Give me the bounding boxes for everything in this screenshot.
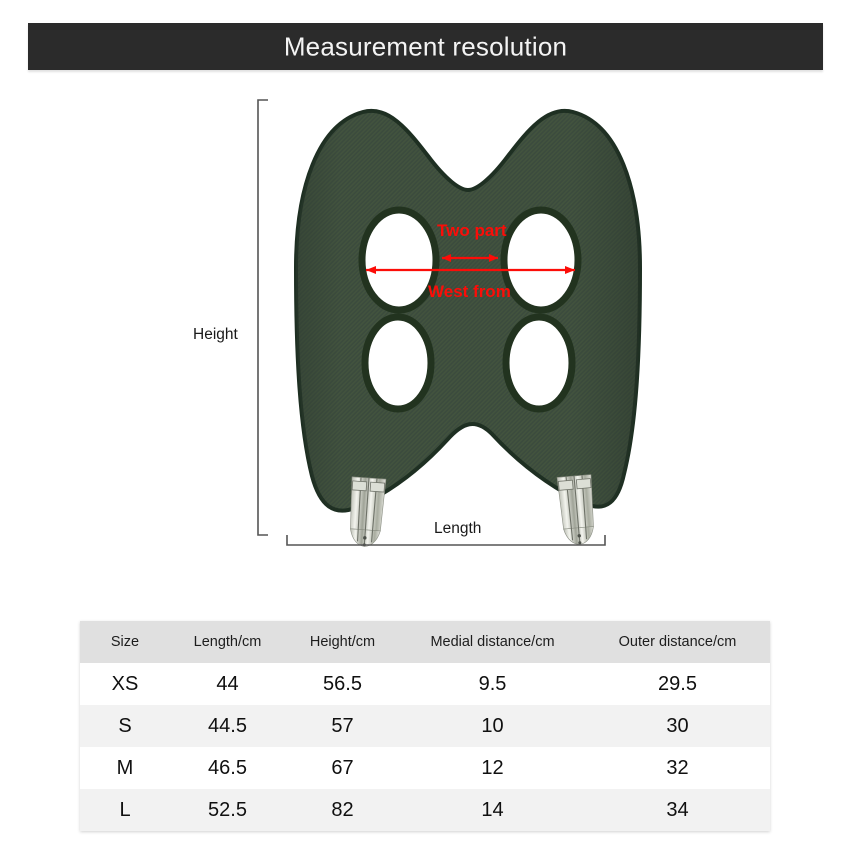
cell-medial: 10: [400, 705, 585, 747]
cell-length: 52.5: [170, 789, 285, 831]
product-illustration: [0, 78, 850, 598]
column-header-length: Length/cm: [170, 621, 285, 663]
cell-outer: 29.5: [585, 663, 770, 705]
column-header-medial: Medial distance/cm: [400, 621, 585, 663]
cell-height: 82: [285, 789, 400, 831]
leg-hole-bottom-left: [365, 317, 431, 409]
cell-size: XS: [80, 663, 170, 705]
product-body: [290, 98, 650, 528]
cell-height: 56.5: [285, 663, 400, 705]
annotation-west-from: West from: [428, 282, 511, 302]
annotation-two-part: Two part: [437, 221, 507, 241]
size-chart-table: Size Length/cm Height/cm Medial distance…: [80, 621, 770, 831]
table-row: S 44.5 57 10 30: [80, 705, 770, 747]
product-diagram: Height Length Two part West from: [0, 78, 850, 598]
cell-outer: 32: [585, 747, 770, 789]
length-dimension-label: Length: [434, 520, 481, 538]
cell-medial: 9.5: [400, 663, 585, 705]
height-dimension-bracket: [258, 100, 268, 535]
cell-length: 44.5: [170, 705, 285, 747]
table-header-row: Size Length/cm Height/cm Medial distance…: [80, 621, 770, 663]
cell-size: L: [80, 789, 170, 831]
cell-height: 67: [285, 747, 400, 789]
header-banner: Measurement resolution: [28, 23, 823, 70]
page-title: Measurement resolution: [28, 31, 823, 62]
leg-hole-bottom-right: [506, 317, 572, 409]
strap-bottom-left: [347, 477, 386, 548]
cell-outer: 30: [585, 705, 770, 747]
cell-medial: 14: [400, 789, 585, 831]
cell-length: 46.5: [170, 747, 285, 789]
leg-hole-top-right: [504, 210, 578, 310]
table-row: XS 44 56.5 9.5 29.5: [80, 663, 770, 705]
table-row: L 52.5 82 14 34: [80, 789, 770, 831]
cell-outer: 34: [585, 789, 770, 831]
cell-length: 44: [170, 663, 285, 705]
height-dimension-label: Height: [193, 326, 238, 344]
column-header-height: Height/cm: [285, 621, 400, 663]
column-header-size: Size: [80, 621, 170, 663]
cell-size: S: [80, 705, 170, 747]
cell-medial: 12: [400, 747, 585, 789]
table-row: M 46.5 67 12 32: [80, 747, 770, 789]
column-header-outer: Outer distance/cm: [585, 621, 770, 663]
cell-height: 57: [285, 705, 400, 747]
strap-bottom-right: [557, 475, 597, 546]
cell-size: M: [80, 747, 170, 789]
leg-hole-top-left: [362, 210, 436, 310]
